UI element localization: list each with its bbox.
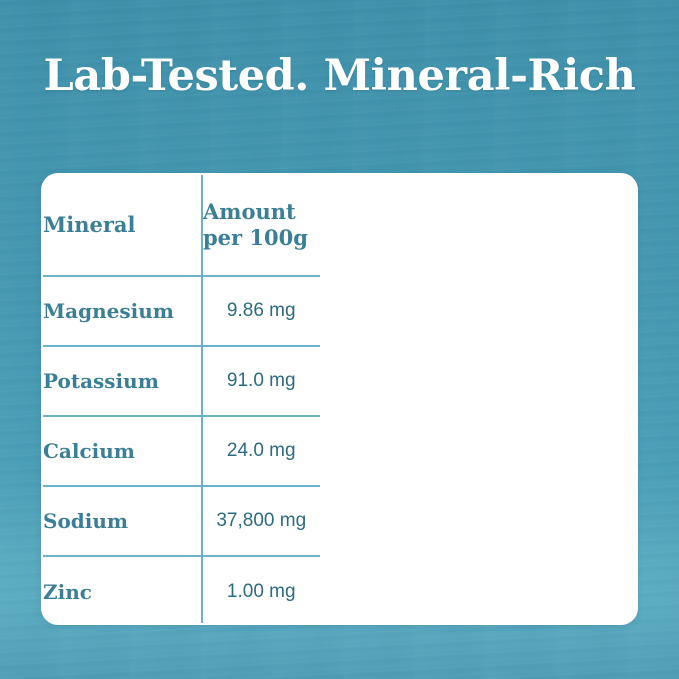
table-row: Calcium 24.0 mg Supports skin barrier & … bbox=[43, 416, 636, 486]
cell-amount: 24.0 mg bbox=[202, 416, 321, 486]
cell-benefit: Supports natural skin defense bbox=[321, 556, 636, 625]
cell-amount: 9.86 mg bbox=[202, 276, 321, 346]
mineral-table: Mineral Amount per 100g Benefit Highligh… bbox=[43, 175, 636, 625]
cell-benefit: Natural cleansing & detoxifying bbox=[321, 486, 636, 556]
cell-benefit: Supports skin barrier & renewal bbox=[321, 416, 636, 486]
cell-mineral-name: Calcium bbox=[43, 416, 202, 486]
table-row: Magnesium 9.86 mg Soothes skin, supports… bbox=[43, 276, 636, 346]
table-row: Potassium 91.0 mg Helps skin hydration &… bbox=[43, 346, 636, 416]
column-header-amount: Amount per 100g bbox=[202, 175, 321, 276]
column-header-mineral: Mineral bbox=[43, 175, 202, 276]
cell-mineral-name: Potassium bbox=[43, 346, 202, 416]
table-header: Mineral Amount per 100g Benefit Highligh… bbox=[43, 175, 636, 276]
cell-amount: 37,800 mg bbox=[202, 486, 321, 556]
table-row: Zinc 1.00 mg Supports natural skin defen… bbox=[43, 556, 636, 625]
cell-mineral-name: Zinc bbox=[43, 556, 202, 625]
cell-benefit: Helps skin hydration & pH balance bbox=[321, 346, 636, 416]
table-body: Magnesium 9.86 mg Soothes skin, supports… bbox=[43, 276, 636, 625]
column-header-amount-line2: per 100g bbox=[203, 225, 308, 250]
cell-amount: 91.0 mg bbox=[202, 346, 321, 416]
cell-mineral-name: Magnesium bbox=[43, 276, 202, 346]
cell-amount: 1.00 mg bbox=[202, 556, 321, 625]
mineral-table-card: Mineral Amount per 100g Benefit Highligh… bbox=[41, 173, 638, 625]
table-row: Sodium 37,800 mg Natural cleansing & det… bbox=[43, 486, 636, 556]
column-header-benefit: Benefit Highlight bbox=[321, 175, 636, 276]
table-header-row: Mineral Amount per 100g Benefit Highligh… bbox=[43, 175, 636, 276]
cell-benefit: Soothes skin, supports relaxation bbox=[321, 276, 636, 346]
infographic-root: Lab-Tested. Mineral-Rich Mineral Amount … bbox=[0, 0, 679, 679]
page-title: Lab-Tested. Mineral-Rich bbox=[0, 52, 679, 100]
column-header-amount-line1: Amount bbox=[203, 199, 296, 224]
cell-mineral-name: Sodium bbox=[43, 486, 202, 556]
